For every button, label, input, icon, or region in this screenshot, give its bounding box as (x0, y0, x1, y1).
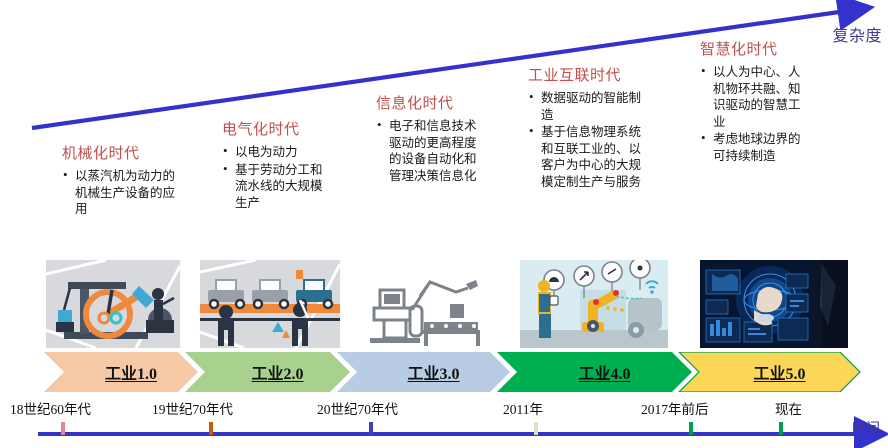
era-bullets-informatization: 电子和信息技术驱动的更高程度的设备自动化和管理决策信息化 (376, 118, 488, 184)
era-title-intelligent: 智慧化时代 (700, 38, 812, 59)
era-bullet: 数据驱动的智能制造 (528, 90, 644, 123)
era-bullets-industrial-internet: 数据驱动的智能制造 基于信息物理系统和互联工业的、以客户为中心的大规模定制生产与… (528, 90, 644, 190)
picture-digital-hand-illustration (700, 260, 848, 348)
chevron-label-stage-4: 工业4.0 (517, 360, 692, 384)
era-bullet: 基于信息物理系统和互联工业的、以客户为中心的大规模定制生产与服务 (528, 124, 644, 190)
chevron-label-stage-1: 工业1.0 (64, 360, 198, 384)
era-block-intelligent: 智慧化时代 以人为中心、人机物环共融、知识驱动的智慧工业 考虑地球边界的可持续制… (700, 38, 812, 165)
time-tick-4 (534, 422, 538, 435)
time-axis (0, 414, 888, 448)
time-tick-3 (369, 422, 373, 435)
era-block-mechanical: 机械化时代 以蒸汽机为动力的机械生产设备的应用 (62, 142, 180, 219)
era-bullets-electrical: 以电为动力 基于劳动分工和流水线的大规模生产 (222, 144, 334, 211)
chevron-label-stage-3: 工业3.0 (357, 360, 510, 384)
time-axis-label: 时间 (852, 418, 880, 438)
picture-assembly-line-illustration (200, 260, 340, 348)
industry-evolution-infographic: 复杂度 机械化时代 以蒸汽机为动力的机械生产设备的应用 电气化时代 以电为动力 … (0, 0, 888, 448)
era-block-industrial-internet: 工业互联时代 数据驱动的智能制造 基于信息物理系统和互联工业的、以客户为中心的大… (528, 64, 644, 191)
era-bullets-mechanical: 以蒸汽机为动力的机械生产设备的应用 (62, 168, 180, 218)
era-title-mechanical: 机械化时代 (62, 142, 180, 163)
era-bullet: 以电为动力 (222, 144, 334, 161)
era-title-industrial-internet: 工业互联时代 (528, 64, 644, 85)
era-bullet: 以蒸汽机为动力的机械生产设备的应用 (62, 168, 180, 218)
era-bullet: 以人为中心、人机物环共融、知识驱动的智慧工业 (700, 64, 812, 130)
chevron-label-stage-2: 工业2.0 (205, 360, 350, 384)
picture-robot-arm-illustration (360, 260, 498, 348)
era-title-informatization: 信息化时代 (376, 92, 488, 113)
era-block-electrical: 电气化时代 以电为动力 基于劳动分工和流水线的大规模生产 (222, 118, 334, 212)
time-tick-1 (61, 422, 65, 435)
era-block-informatization: 信息化时代 电子和信息技术驱动的更高程度的设备自动化和管理决策信息化 (376, 92, 488, 185)
complexity-axis-label: 复杂度 (832, 22, 882, 46)
era-title-electrical: 电气化时代 (222, 118, 334, 139)
time-tick-2 (209, 422, 213, 435)
era-bullet: 考虑地球边界的可持续制造 (700, 131, 812, 164)
time-tick-5 (689, 422, 693, 435)
time-tick-6 (779, 422, 783, 435)
era-bullets-intelligent: 以人为中心、人机物环共融、知识驱动的智慧工业 考虑地球边界的可持续制造 (700, 64, 812, 164)
era-bullet: 电子和信息技术驱动的更高程度的设备自动化和管理决策信息化 (376, 118, 488, 184)
picture-steam-machine-illustration (46, 260, 180, 348)
era-bullet: 基于劳动分工和流水线的大规模生产 (222, 162, 334, 212)
chevron-label-stage-5: 工业5.0 (699, 360, 860, 384)
picture-smart-factory-illustration (520, 260, 668, 348)
